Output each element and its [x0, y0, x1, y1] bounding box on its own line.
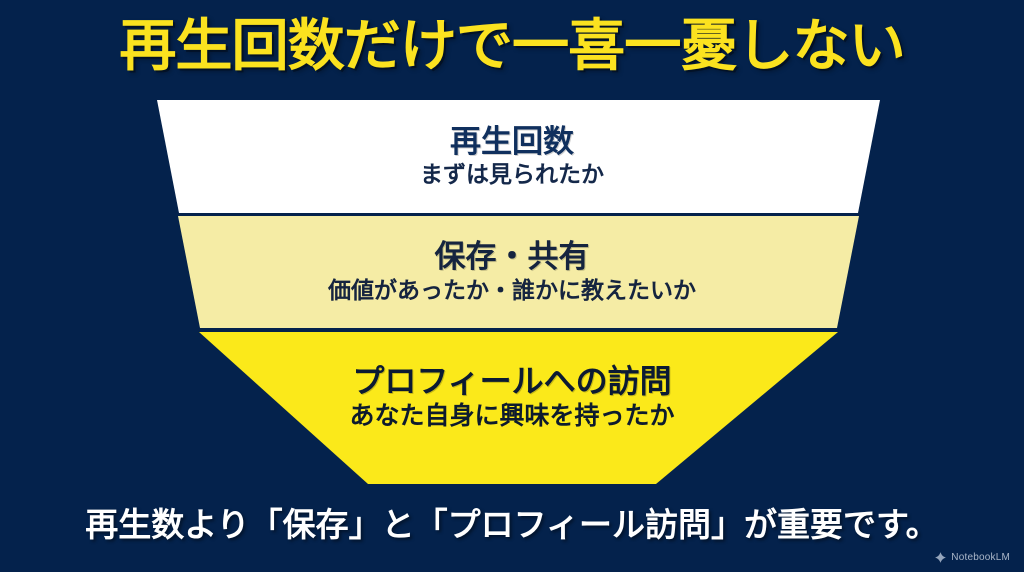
funnel-stage-1: 再生回数 まずは見られたか — [0, 100, 1024, 213]
funnel-stage-2-subtext: 価値があったか・誰かに教えたいか — [0, 278, 1024, 303]
funnel-stage-2-labels: 保存・共有 価値があったか・誰かに教えたいか — [0, 240, 1024, 303]
notebooklm-icon — [934, 551, 947, 564]
funnel-stage-2-heading: 保存・共有 — [0, 240, 1024, 274]
funnel-stage-2: 保存・共有 価値があったか・誰かに教えたいか — [0, 216, 1024, 328]
watermark-label: NotebookLM — [951, 552, 1010, 563]
funnel-stage-1-subtext: まずは見られたか — [0, 162, 1024, 187]
watermark: NotebookLM — [934, 551, 1010, 564]
funnel-stage-3-subtext: あなた自身に興味を持ったか — [0, 403, 1024, 431]
slide-canvas: 再生回数だけで一喜一憂しない 再生回数 まずは見られたか 保存・共有 価値があっ… — [0, 0, 1024, 572]
funnel-stage-3-heading: プロフィールへの訪問 — [0, 364, 1024, 399]
summary-caption: 再生数より「保存」と「プロフィール訪問」が重要です。 — [0, 498, 1024, 546]
funnel-stage-3-labels: プロフィールへの訪問 あなた自身に興味を持ったか — [0, 364, 1024, 431]
funnel-diagram: 再生回数 まずは見られたか 保存・共有 価値があったか・誰かに教えたいか プロフ… — [0, 100, 1024, 484]
funnel-stage-1-heading: 再生回数 — [0, 125, 1024, 159]
funnel-stage-1-labels: 再生回数 まずは見られたか — [0, 125, 1024, 187]
page-title: 再生回数だけで一喜一憂しない — [0, 14, 1024, 78]
funnel-stage-3: プロフィールへの訪問 あなた自身に興味を持ったか — [0, 332, 1024, 484]
